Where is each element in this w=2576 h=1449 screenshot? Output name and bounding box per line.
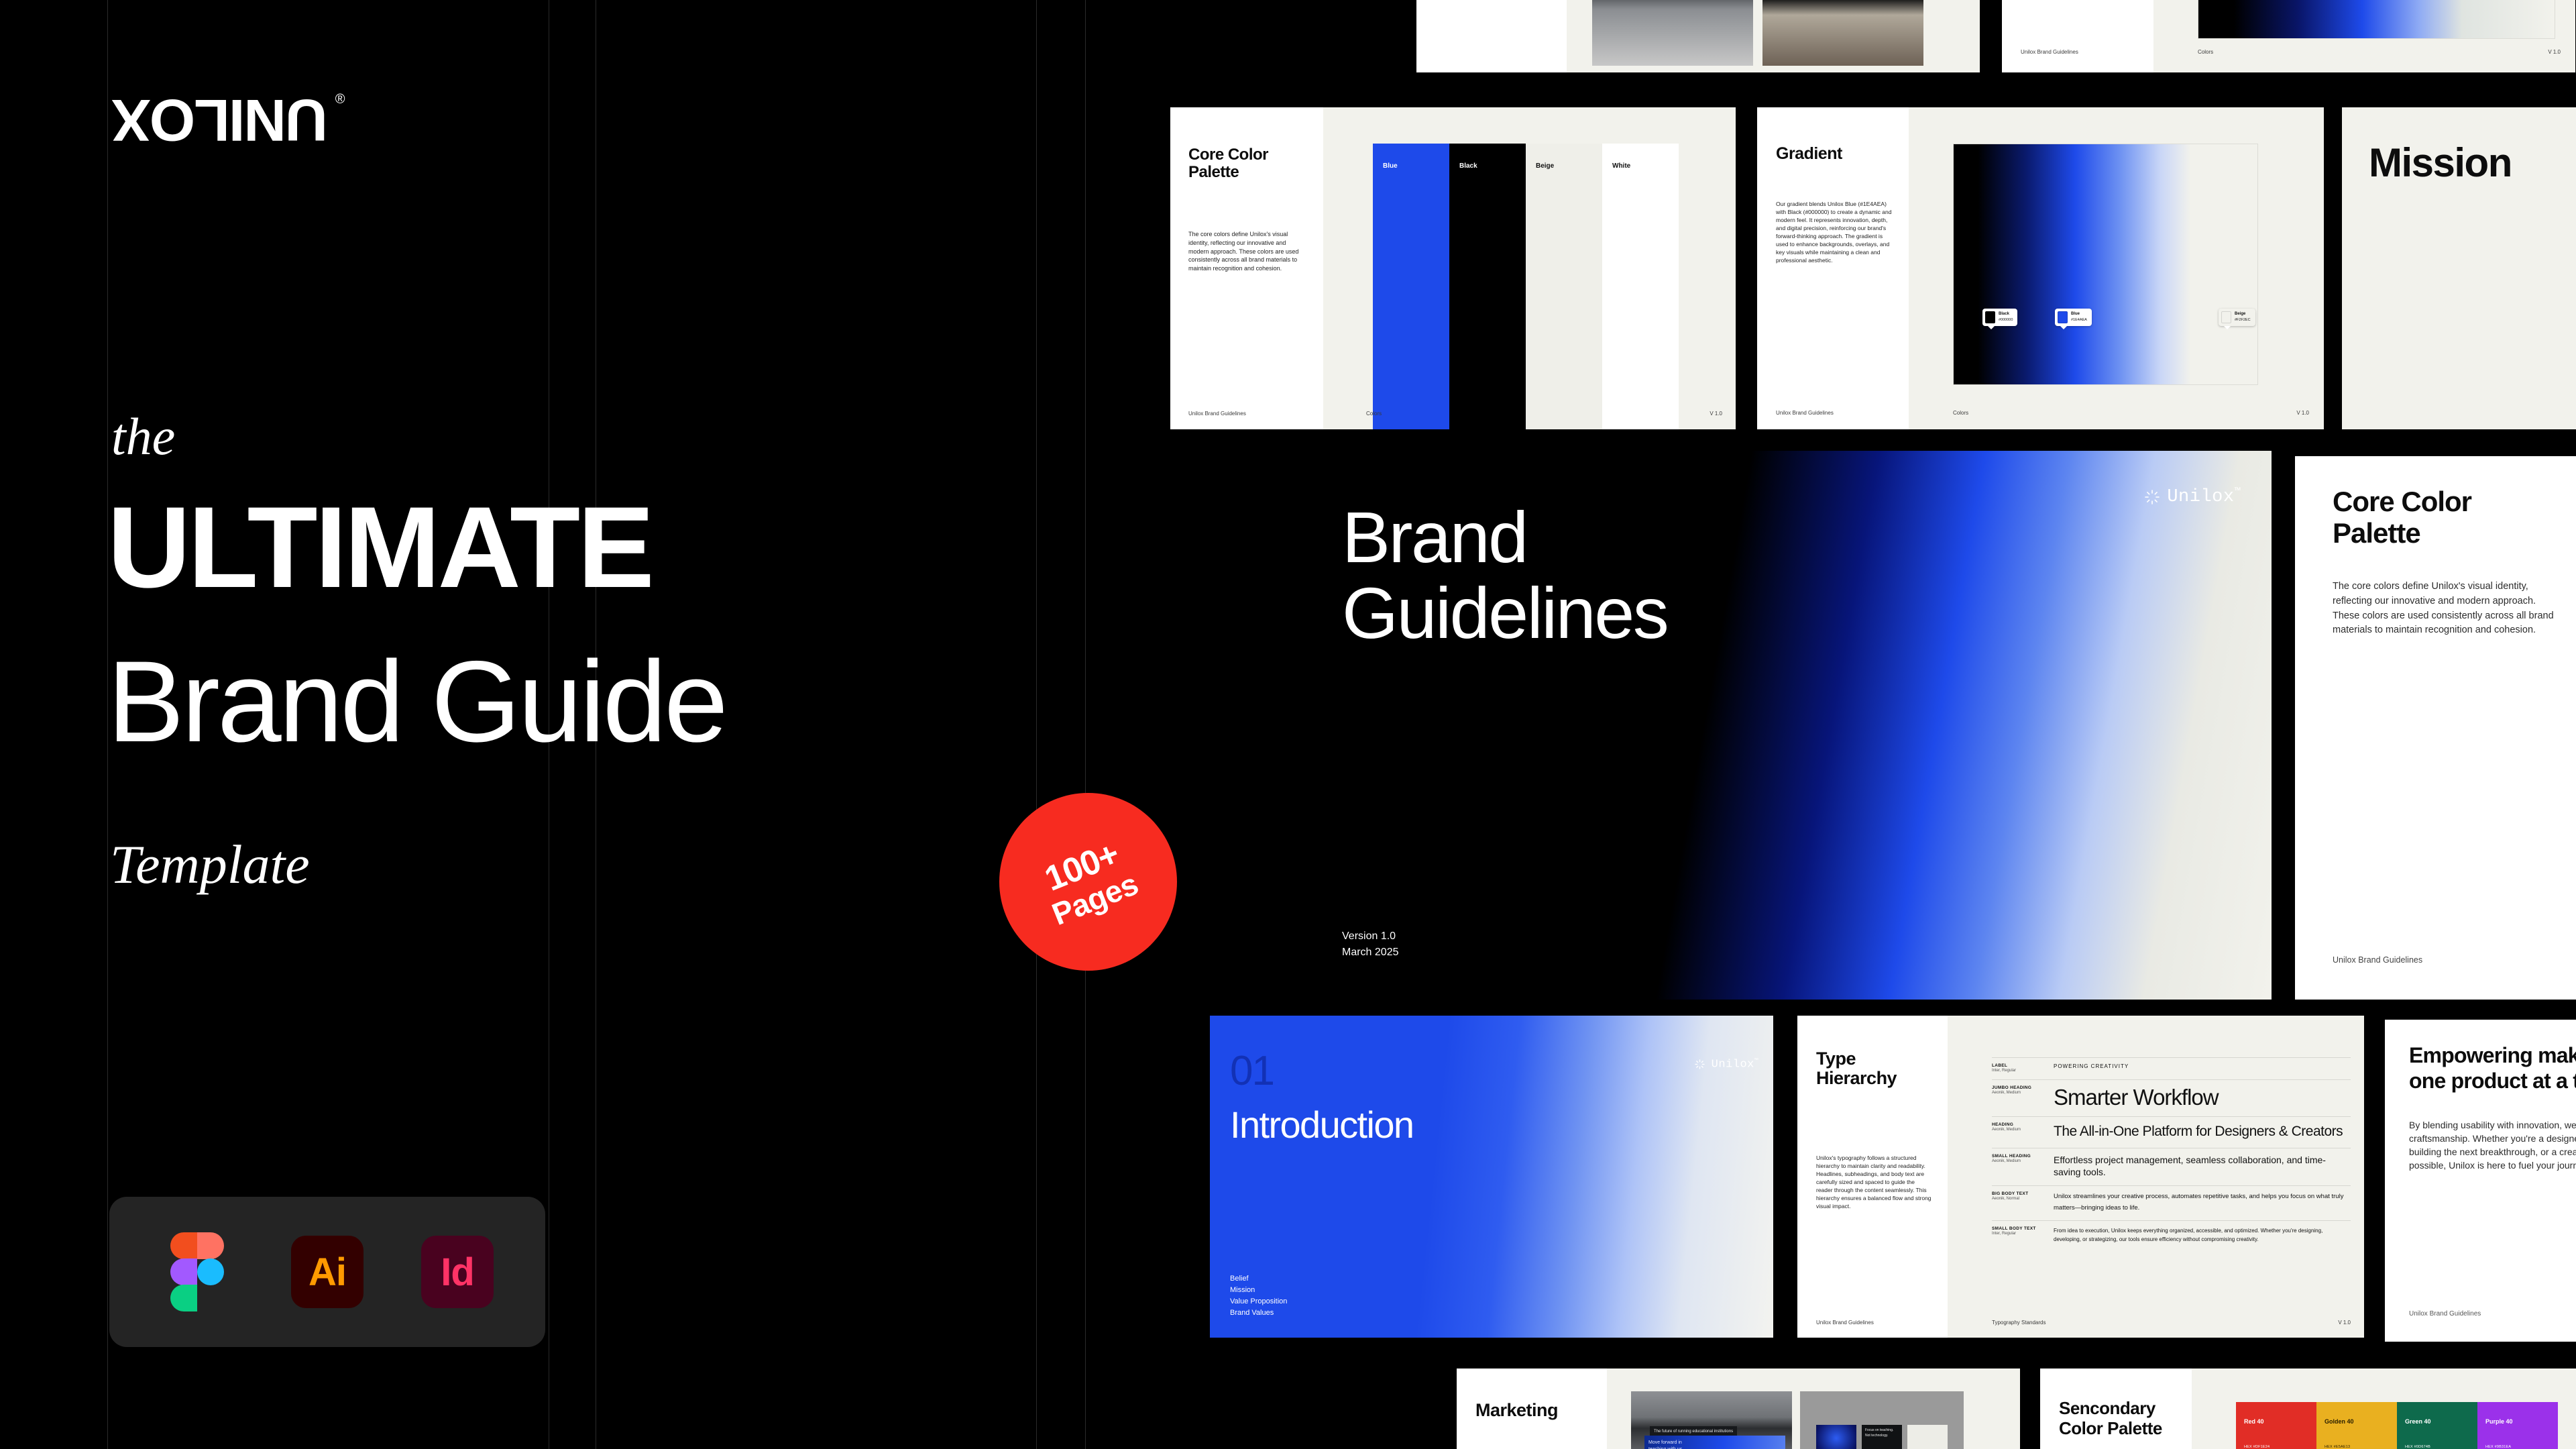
gradient-swatch-bar [2198,0,2555,39]
figma-icon[interactable] [161,1236,233,1308]
type-label-name: SMALL HEADING [1992,1154,2054,1159]
gradient-chip-beige: Beige#F2F2EC [2219,309,2255,326]
swatch-name: Black [1459,162,1477,170]
type-label: BIG BODY TEXTAeonik, Normal [1992,1191,2054,1213]
slide-footer-left: Unilox Brand Guidelines [2333,955,2422,965]
unilox-logo: UNILOX ® [113,91,327,150]
marketing-photo-1: The future of running educational instit… [1592,0,1753,66]
swatch-hex: HEX #9B31EA [2485,1444,2518,1449]
type-sample: Smarter Workflow [2054,1085,2351,1110]
marketing-posters-photo: Focus on teaching. Not technology. [1800,1391,1964,1449]
illustrator-icon[interactable]: Ai [291,1236,363,1308]
swatch-meta: HEX #E5AE13RGB (229,174,19)CMYK (0,24,92… [2325,1444,2358,1449]
type-sample: Effortless project management, seamless … [2054,1154,2351,1179]
type-specimen-row: SMALL HEADINGAeonik, MediumEffortless pr… [1992,1148,2351,1186]
toc-item: Mission [1230,1285,1287,1296]
color-swatch: BlackHEX #141414R 20G 20B 20PMS BLACK 3C [1449,144,1526,429]
lockup-wordmark: Unilox™ [1712,1057,1758,1071]
swatch-meta: HEX #9B31EARGB (155,49,234)CMYK (34,79,0… [2485,1444,2518,1449]
slide-footer-left: Unilox Brand Guidelines [2409,1310,2481,1318]
slide-introduction[interactable]: 01 Introduction Unilox™ BeliefMissionVal… [1210,1016,1773,1338]
slide-body-text: The core colors define Unilox's visual i… [1188,230,1306,273]
poster-canvas: UNILOX ® the ULTIMATE Brand Guide Templa… [0,0,2576,1449]
slide-marketing[interactable]: Marketing The future of running educatio… [1457,1368,2020,1449]
swatch-meta: HEX #0D674BRGB (13,103,75)CMYK (87,0,27,… [2405,1444,2439,1449]
section-toc: BeliefMissionValue PropositionBrand Valu… [1230,1273,1287,1319]
slide-mission[interactable]: Mission [2342,107,2576,429]
slide-core-color-palette[interactable]: Core Color Palette The core colors defin… [1170,107,1736,429]
unilox-lockup: Unilox™ [2143,487,2241,507]
pages-badge: 100+ Pages [999,793,1177,971]
slide-body-text: Our gradient blends Unilox Blue (#1E4AEA… [1776,200,1895,265]
gradient-chip-black: Black#000000 [1982,309,2017,326]
slide-title: Mission [2369,140,2512,186]
swatch-name: Red 40 [2244,1418,2264,1425]
logo-wordmark: UNILOX [113,91,327,150]
unilox-lockup: Unilox™ [1694,1057,1758,1071]
type-label: LABELInter, Regular [1992,1063,2054,1073]
type-label-font: Inter, Regular [1992,1069,2054,1073]
type-sample: Unilox streamlines your creative process… [2054,1191,2351,1213]
type-label-name: BIG BODY TEXT [1992,1191,2054,1196]
secondary-swatch: Green 40HEX #0D674BRGB (13,103,75)CMYK (… [2397,1402,2477,1449]
secondary-swatch: Purple 40HEX #9B31EARGB (155,49,234)CMYK… [2477,1402,2558,1449]
slide-gradient-partial[interactable]: Unilox Brand Guidelines Colors V 1.0 [2002,0,2575,72]
swatch-hex: HEX #E5AE13 [2325,1444,2358,1449]
slide-secondary-color-palette[interactable]: Sencondary Color Palette Our secondary c… [2040,1368,2576,1449]
type-label-font: Aeonik, Normal [1992,1197,2054,1201]
cover-title: Brand Guidelines [1342,499,1667,651]
type-label: SMALL HEADINGAeonik, Medium [1992,1154,2054,1179]
indesign-icon[interactable]: Id [421,1236,494,1308]
marketing-photo-2 [1762,0,1923,66]
type-label-name: SMALL BODY TEXT [1992,1226,2054,1231]
lockup-wordmark: Unilox™ [2167,487,2241,507]
billboard-ad: Move forward in teaching with us. [1644,1436,1785,1449]
slide-title: Core Color Palette [2333,486,2471,549]
hero-kicker: the [111,411,175,463]
type-specimen-row: BIG BODY TEXTAeonik, NormalUnilox stream… [1992,1185,2351,1220]
slide-footer-center: Typography Standards [1992,1320,2046,1326]
slide-marketing-photos-partial[interactable]: The future of running educational instit… [1416,0,1980,72]
type-label-name: JUMBO HEADING [1992,1085,2054,1090]
type-specimen-list: LABELInter, RegularPOWERING CREATIVITYJU… [1992,1057,2351,1251]
type-specimen-row: LABELInter, RegularPOWERING CREATIVITY [1992,1057,2351,1079]
slide-body-text: By blending usability with innovation, w… [2409,1119,2576,1173]
slide-footer-right: V 1.0 [2296,410,2309,416]
slide-footer-left: Unilox Brand Guidelines [1816,1320,1874,1326]
slide-footer-right: V 1.0 [1710,411,1722,417]
slide-title: Type Hierarchy [1816,1049,1897,1088]
type-label-name: LABEL [1992,1063,2054,1068]
slide-footer-right: V 1.0 [2548,49,2561,55]
slide-footer-center: Colors [1366,411,1382,417]
cover-version-block: Version 1.0 March 2025 [1342,928,1399,961]
type-label: HEADINGAeonik, Medium [1992,1122,2054,1140]
type-label-font: Aeonik, Medium [1992,1091,2054,1095]
type-sample: The All-in-One Platform for Designers & … [2054,1122,2351,1140]
poster-mock-3 [1907,1425,1948,1449]
slide-footer-left: Unilox Brand Guidelines [1188,411,1246,417]
hero-headline-line1: ULTIMATE [107,490,652,605]
gradient-chip-blue: Blue#1E4AEA [2055,309,2092,326]
color-swatch: BeigeHEX #E6E6E6R 230G 230B 230PMS COOL … [1526,144,1602,429]
slide-title: Gradient [1776,145,1842,163]
swatch-name: Blue [1383,162,1398,170]
type-label: JUMBO HEADINGAeonik, Medium [1992,1085,2054,1110]
color-swatch: BlueHEX #1E4AEAR 30G 74B 234PMS 13-0830 … [1373,144,1449,429]
type-label-font: Aeonik, Medium [1992,1128,2054,1132]
color-swatch-strip: BlueHEX #1E4AEAR 30G 74B 234PMS 13-0830 … [1373,144,1679,429]
registered-mark-icon: ® [335,92,345,107]
swatch-main: Golden 40HEX #E5AE13RGB (229,174,19)CMYK… [2316,1402,2397,1449]
slide-title: Sencondary Color Palette [2059,1398,2162,1438]
swatch-meta: HEX #DF1E24RGB (223,30,36)CMYK (0,87,84,… [2244,1444,2278,1449]
swatch-main: Red 40HEX #DF1E24RGB (223,30,36)CMYK (0,… [2236,1402,2316,1449]
color-swatch: WhiteHEX #FFFFFFR 255G 255B 255PMS WHITE [1602,144,1679,429]
slide-title: Marketing [1475,1401,1558,1420]
type-specimen-row: SMALL BODY TEXTInter, RegularFrom idea t… [1992,1220,2351,1251]
slide-footer-right: V 1.0 [2338,1320,2351,1326]
slide-footer-left: Unilox Brand Guidelines [2021,49,2078,55]
type-specimen-row: JUMBO HEADINGAeonik, MediumSmarter Workf… [1992,1079,2351,1116]
type-sample: From idea to execution, Unilox keeps eve… [2054,1226,2351,1244]
cover-version: Version 1.0 [1342,928,1399,945]
poster-mock-1 [1816,1425,1856,1449]
slide-type-hierarchy[interactable]: Type Hierarchy Unilox's typography follo… [1797,1016,2364,1338]
secondary-swatch: Red 40HEX #DF1E24RGB (223,30,36)CMYK (0,… [2236,1402,2316,1449]
marketing-billboard-photo: The future of running educational instit… [1631,1391,1792,1449]
swatch-hex: HEX #0D674B [2405,1444,2439,1449]
slide-footer-left: Unilox Brand Guidelines [1776,410,1834,416]
type-label: SMALL BODY TEXTInter, Regular [1992,1226,2054,1244]
type-label-name: HEADING [1992,1122,2054,1127]
gradient-preview [1953,144,2258,385]
slide-footer-center: Colors [1953,410,1968,416]
intro-gradient [1210,1016,1773,1338]
app-compatibility-bar: Ai Id [109,1197,545,1347]
hero-panel: UNILOX ® the ULTIMATE Brand Guide Templa… [0,0,1154,1449]
swatch-name: Beige [1536,162,1554,170]
slide-title: Core Color Palette [1188,146,1268,181]
swatch-name: White [1612,162,1630,170]
section-number: 01 [1230,1051,1274,1092]
slide-footer-center: Colors [2198,49,2213,55]
swatch-name: Purple 40 [2485,1418,2513,1425]
poster-mock-2: Focus on teaching. Not technology. [1862,1425,1902,1449]
type-sample: POWERING CREATIVITY [2054,1063,2351,1073]
hero-headline-line2: Brand Guide [107,644,726,759]
cover-date: March 2025 [1342,945,1399,961]
swatch-name: Green 40 [2405,1418,2431,1425]
slide-body-text: The core colors define Unilox's visual i… [2333,580,2554,638]
type-label-font: Inter, Regular [1992,1232,2054,1236]
slide-empowering-makers[interactable]: Empowering makers, one product at a time… [2385,1020,2576,1342]
type-label-font: Aeonik, Medium [1992,1159,2054,1163]
toc-item: Value Proposition [1230,1296,1287,1307]
slide-title: Empowering makers, one product at a time… [2409,1042,2576,1094]
hero-subkicker: Template [110,837,310,892]
sun-burst-icon [1694,1059,1705,1070]
secondary-swatch: Golden 40HEX #E5AE13RGB (229,174,19)CMYK… [2316,1402,2397,1449]
slide-brand-guidelines-cover[interactable]: Brand Guidelines Unilox™ Version 1.0 [1306,451,2272,1000]
toc-item: Belief [1230,1273,1287,1285]
slide-gradient[interactable]: Gradient Our gradient blends Unilox Blue… [1757,107,2324,429]
type-specimen-row: HEADINGAeonik, MediumThe All-in-One Plat… [1992,1116,2351,1147]
sun-burst-icon [2143,488,2161,506]
slide-body-text: Unilox's typography follows a structured… [1816,1154,1931,1210]
toc-item: Brand Values [1230,1307,1287,1319]
secondary-swatch-grid: Red 40HEX #DF1E24RGB (223,30,36)CMYK (0,… [2236,1402,2558,1449]
slide-core-palette-card[interactable]: Core Color Palette The core colors defin… [2295,456,2576,1000]
swatch-name: Golden 40 [2325,1418,2354,1425]
swatch-main: Purple 40HEX #9B31EARGB (155,49,234)CMYK… [2477,1402,2558,1449]
swatch-hex: HEX #DF1E24 [2244,1444,2278,1449]
swatch-main: Green 40HEX #0D674BRGB (13,103,75)CMYK (… [2397,1402,2477,1449]
slide-title: Introduction [1230,1106,1413,1144]
